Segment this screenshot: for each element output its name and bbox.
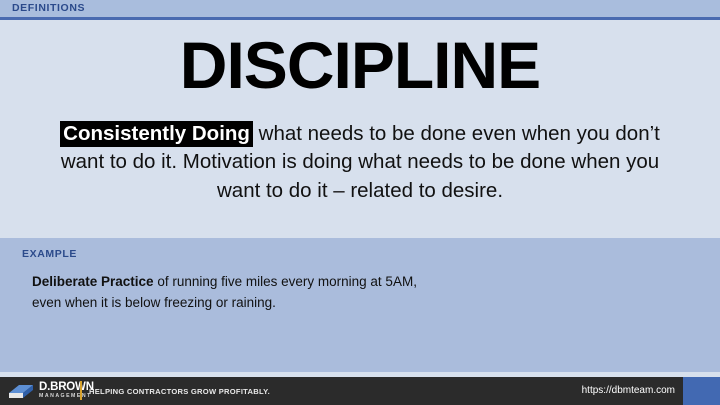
logo-wordmark: D.BROWN MANAGEMENT — [39, 382, 94, 400]
logo-subtitle: MANAGEMENT — [39, 394, 94, 399]
definition-paragraph: Consistently Doing what needs to be done… — [42, 120, 678, 205]
slide-canvas: DEFINITIONS DISCIPLINE Consistently Doin… — [0, 0, 720, 405]
definitions-header-band — [0, 0, 720, 17]
definition-area: DISCIPLINE Consistently Doing what needs… — [0, 20, 720, 238]
example-paragraph: Deliberate Practice of running five mile… — [32, 272, 422, 314]
footer-accent-block — [683, 377, 720, 405]
logo-name: D.BROWN — [39, 382, 94, 394]
example-bold-lead: Deliberate Practice — [32, 274, 154, 289]
footer-website-url[interactable]: https://dbmteam.com — [582, 385, 675, 396]
page-title-term: DISCIPLINE — [0, 32, 720, 98]
definition-highlight-phrase: Consistently Doing — [60, 121, 253, 147]
footer-tagline: HELPING CONTRACTORS GROW PROFITABLY. — [89, 387, 270, 396]
footer-divider — [80, 381, 82, 400]
section-label-example: EXAMPLE — [22, 248, 77, 260]
dbrown-logo-icon — [8, 381, 34, 400]
section-label-definitions: DEFINITIONS — [12, 2, 85, 14]
example-area: EXAMPLE Deliberate Practice of running f… — [0, 238, 720, 372]
